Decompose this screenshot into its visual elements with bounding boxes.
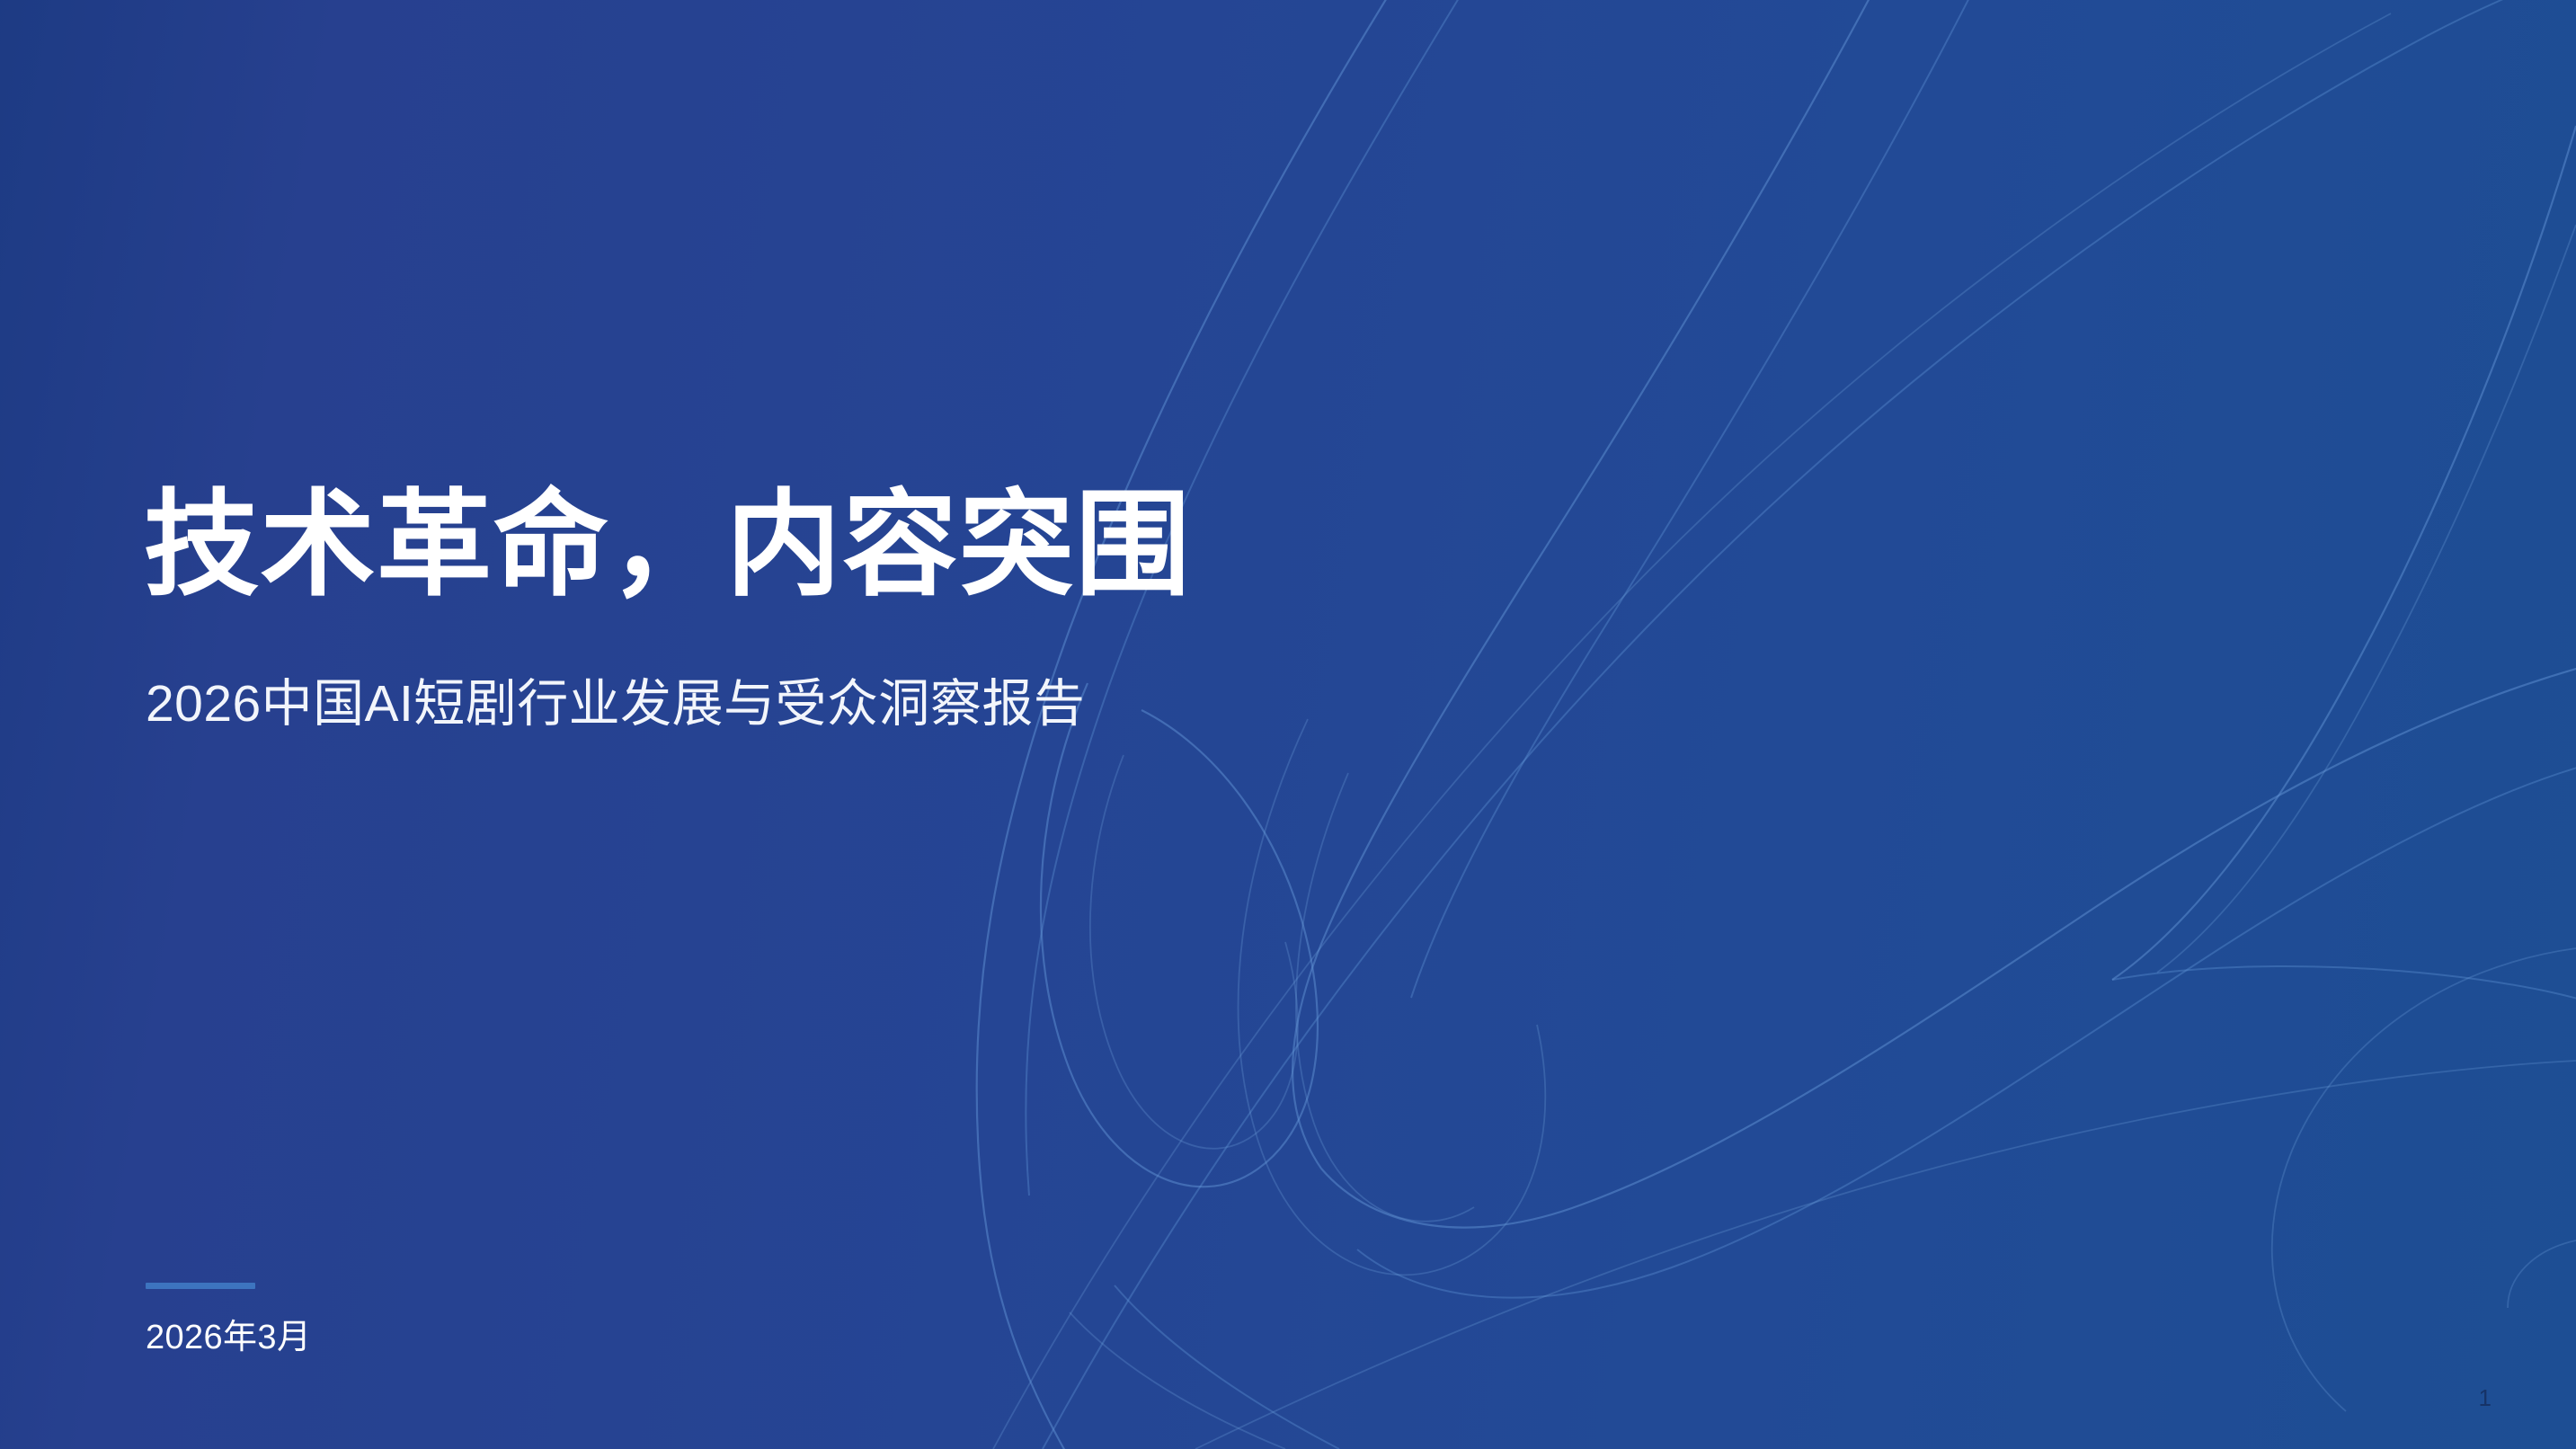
page-subtitle: 2026中国AI短剧行业发展与受众洞察报告	[146, 672, 1085, 736]
page-number: 1	[2479, 1386, 2492, 1409]
accent-divider	[146, 1283, 255, 1289]
page-title: 技术革命，内容突围	[144, 484, 1192, 608]
publication-date: 2026年3月	[146, 1314, 311, 1362]
title-slide: .ln { fill:none; stroke:#5f92d4; stroke-…	[0, 0, 2576, 1449]
title-slide-content: 技术革命，内容突围 2026中国AI短剧行业发展与受众洞察报告 2026年3月	[144, 0, 1941, 1449]
